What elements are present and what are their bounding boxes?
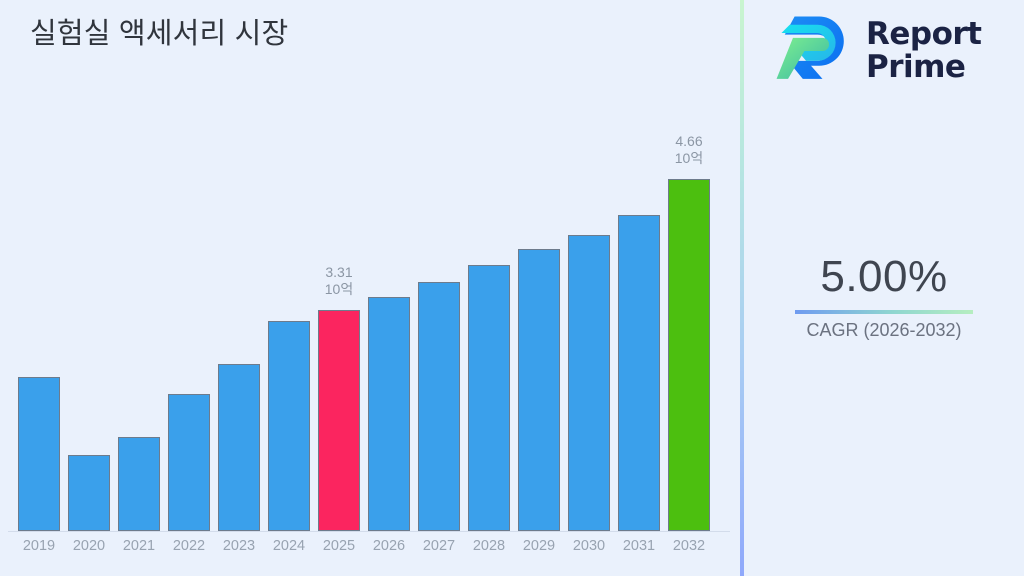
- bar-2019: [18, 377, 60, 531]
- x-tick-2026: 2026: [361, 538, 417, 554]
- x-tick-2020: 2020: [61, 538, 117, 554]
- cagr-value: 5.00%: [744, 252, 1024, 302]
- bar-chart-plot-area: 2019202020212022202320242025202620272028…: [0, 0, 740, 576]
- bar-2020: [68, 455, 110, 531]
- report-prime-logo-icon: [770, 10, 852, 92]
- x-tick-2019: 2019: [11, 538, 67, 554]
- chart-screenshot: 실험실 액세서리 시장 2019202020212022202320242025…: [0, 0, 1024, 576]
- bar-value-2025: 3.31: [304, 264, 374, 281]
- bar-2025: [318, 310, 360, 531]
- bar-2023: [218, 364, 260, 531]
- bar-value-label-2032: 4.6610억: [654, 133, 724, 167]
- bar-2026: [368, 297, 410, 531]
- chart-panel: 실험실 액세서리 시장 2019202020212022202320242025…: [0, 0, 740, 576]
- bar-2032: [668, 179, 710, 531]
- bar-2022: [168, 394, 210, 531]
- x-tick-2021: 2021: [111, 538, 167, 554]
- brand-name-line1: Report: [866, 16, 982, 52]
- bar-2031: [618, 215, 660, 531]
- bar-2027: [418, 282, 460, 531]
- x-tick-2027: 2027: [411, 538, 467, 554]
- bar-unit-2032: 10억: [654, 150, 724, 167]
- x-tick-2025: 2025: [311, 538, 367, 554]
- x-tick-2022: 2022: [161, 538, 217, 554]
- brand-name-line2: Prime: [866, 49, 965, 85]
- bar-unit-2025: 10억: [304, 281, 374, 298]
- brand-logo: Report Prime: [770, 10, 982, 92]
- brand-panel: Report Prime 5.00% CAGR (2026-2032): [744, 0, 1024, 576]
- bar-2021: [118, 437, 160, 531]
- x-tick-2023: 2023: [211, 538, 267, 554]
- x-tick-2029: 2029: [511, 538, 567, 554]
- bar-2024: [268, 321, 310, 531]
- bar-2030: [568, 235, 610, 531]
- x-tick-2028: 2028: [461, 538, 517, 554]
- cagr-block: 5.00% CAGR (2026-2032): [744, 252, 1024, 341]
- bar-2029: [518, 249, 560, 531]
- bar-2028: [468, 265, 510, 531]
- x-tick-2030: 2030: [561, 538, 617, 554]
- x-tick-2031: 2031: [611, 538, 667, 554]
- x-axis-baseline: [8, 531, 730, 532]
- cagr-caption: CAGR (2026-2032): [744, 320, 1024, 341]
- brand-name: Report Prime: [866, 18, 982, 84]
- bar-value-2032: 4.66: [654, 133, 724, 150]
- cagr-divider-rule: [795, 310, 973, 314]
- x-tick-2024: 2024: [261, 538, 317, 554]
- x-tick-2032: 2032: [661, 538, 717, 554]
- bar-value-label-2025: 3.3110억: [304, 264, 374, 298]
